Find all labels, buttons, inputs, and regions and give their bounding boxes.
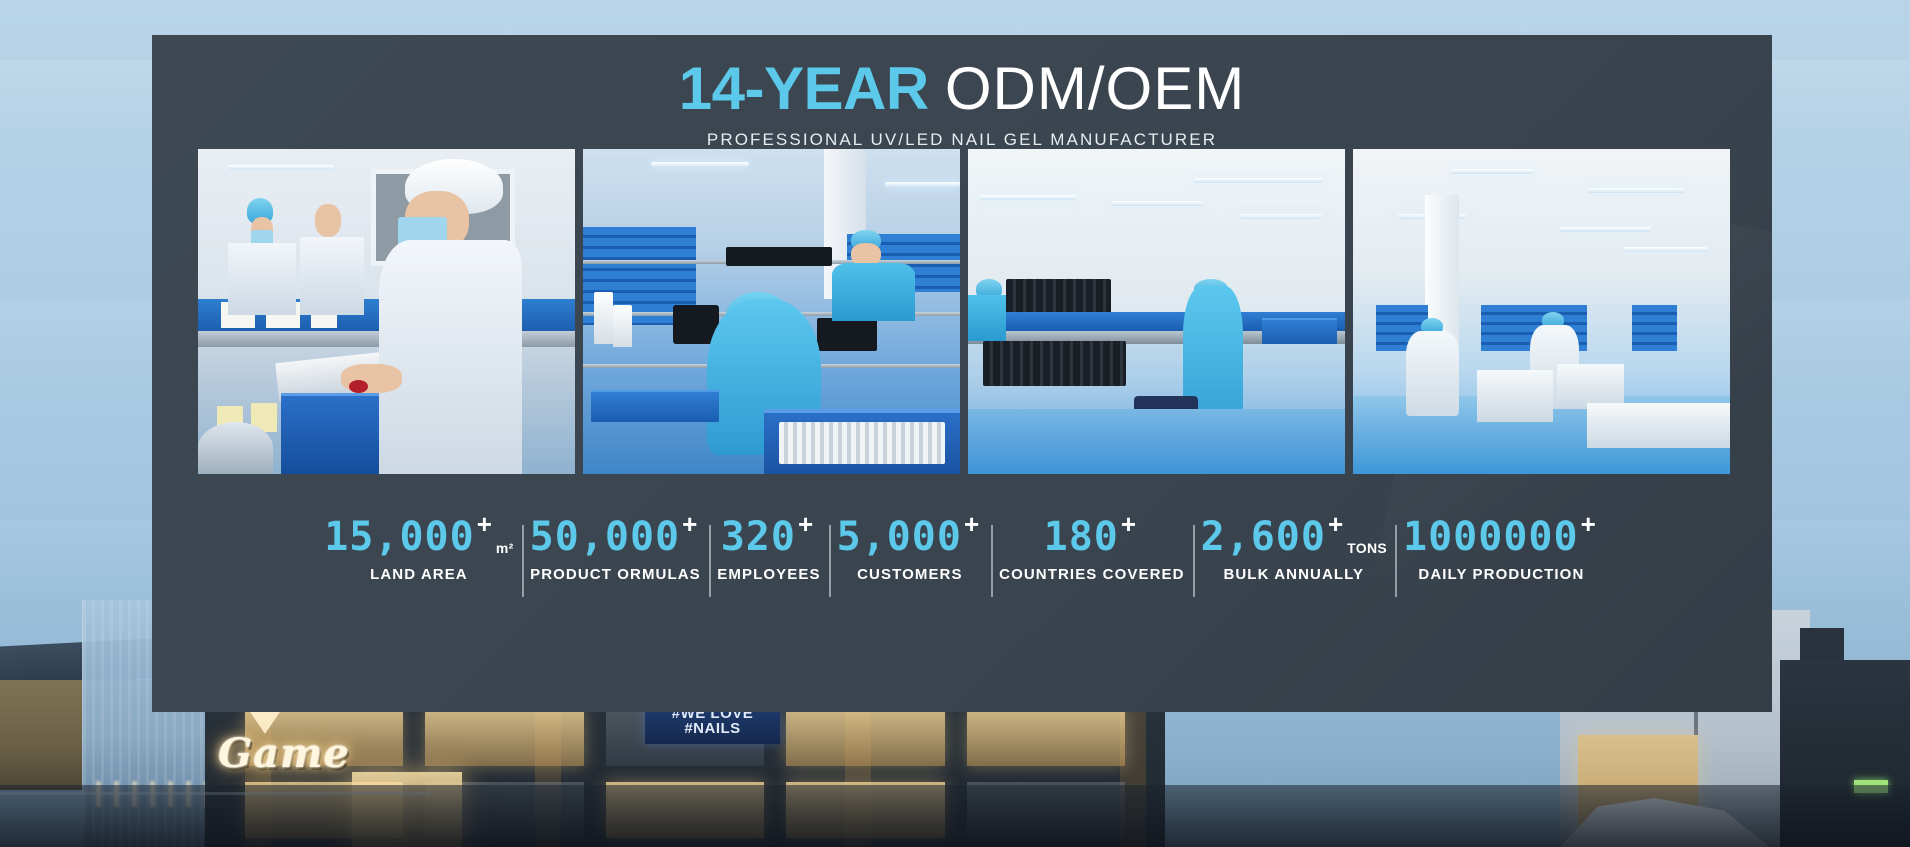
stat-plus: + <box>798 511 814 537</box>
ceiling-light <box>885 182 960 187</box>
white-bowl <box>198 422 273 474</box>
ceiling-light <box>1111 201 1201 206</box>
stat-number: 50,000 <box>530 517 681 557</box>
stat-unit: m² <box>496 541 514 555</box>
blue-floor <box>968 409 1345 474</box>
stat-value: 5,000 + <box>837 517 984 557</box>
worker-coat <box>968 295 1006 341</box>
stat-label: DAILY PRODUCTION <box>1418 566 1584 583</box>
stat-plus: + <box>682 511 698 537</box>
ceiling-light <box>1451 169 1534 174</box>
stat-plus: + <box>477 511 493 537</box>
title-accent: 14-YEAR <box>679 55 929 122</box>
equipment-box <box>726 247 832 267</box>
red-bracelet <box>349 380 368 393</box>
white-caps-pile <box>779 422 945 464</box>
stacked-bins <box>1632 305 1677 351</box>
stat-item: 5,000 + CUSTOMERS <box>829 517 992 583</box>
stat-plus: + <box>964 511 980 537</box>
promo-card: 14-YEAR ODM/OEM PROFESSIONAL UV/LED NAIL… <box>152 35 1772 712</box>
ceiling-light <box>1194 178 1322 183</box>
stat-value: 2,600 + TONS <box>1201 517 1387 557</box>
stat-number: 320 <box>721 517 796 557</box>
worker-body <box>1406 331 1459 416</box>
stat-item: 1000000 + DAILY PRODUCTION <box>1395 517 1608 583</box>
gel-bottle-row <box>983 341 1126 387</box>
stat-value: 320 + <box>721 517 817 557</box>
ceiling-light <box>979 195 1077 200</box>
ceiling-light <box>1587 188 1685 193</box>
stat-plus: + <box>1121 511 1137 537</box>
worker-coat <box>300 237 364 315</box>
stat-number: 180 <box>1044 517 1119 557</box>
stat-item: 50,000 + PRODUCT ORMULAS <box>522 517 710 583</box>
stat-label: LAND AREA <box>370 566 468 583</box>
stat-value: 15,000 + m² <box>324 517 513 557</box>
stat-number: 2,600 <box>1201 517 1326 557</box>
blue-bin <box>591 390 719 423</box>
stat-number: 15,000 <box>324 517 475 557</box>
stat-label: COUNTRIES COVERED <box>999 566 1184 583</box>
ceiling-light <box>1560 227 1650 232</box>
stat-label: PRODUCT ORMULAS <box>530 566 701 583</box>
white-table <box>1587 403 1730 449</box>
stat-label: EMPLOYEES <box>717 566 820 583</box>
stat-unit: TONS <box>1347 541 1387 555</box>
stat-item: 15,000 + m² LAND AREA <box>316 517 521 583</box>
white-table <box>1477 370 1552 422</box>
page-title: 14-YEAR ODM/OEM <box>152 57 1772 120</box>
stats-bar: 15,000 + m² LAND AREA 50,000 + PRODUCT O… <box>152 490 1772 610</box>
worker-face <box>315 204 341 237</box>
stat-plus: + <box>1581 511 1597 537</box>
ceiling-light <box>1624 247 1707 252</box>
stat-label: CUSTOMERS <box>857 566 962 583</box>
gallery-photo-1[interactable] <box>198 149 575 474</box>
stat-value: 1000000 + <box>1403 517 1600 557</box>
stat-item: 2,600 + TONS BULK ANNUALLY <box>1193 517 1395 583</box>
white-bottle <box>613 305 632 347</box>
ground-strip <box>0 785 1910 847</box>
worker-coat <box>379 240 522 474</box>
blue-bin <box>1262 318 1337 344</box>
equipment-box <box>817 318 877 351</box>
stat-number: 1000000 <box>1403 517 1579 557</box>
stat-plus: + <box>1328 511 1344 537</box>
worker-coat <box>228 243 296 315</box>
window <box>425 710 583 766</box>
title-plain: ODM/OEM <box>945 55 1245 122</box>
header: 14-YEAR ODM/OEM PROFESSIONAL UV/LED NAIL… <box>152 35 1772 150</box>
page-subtitle: PROFESSIONAL UV/LED NAIL GEL MANUFACTURE… <box>152 130 1772 150</box>
photo-gallery <box>198 149 1730 474</box>
gallery-photo-2[interactable] <box>583 149 960 474</box>
stat-item: 180 + COUNTRIES COVERED <box>991 517 1192 583</box>
stat-item: 320 + EMPLOYEES <box>709 517 828 583</box>
stat-value: 180 + <box>1044 517 1140 557</box>
stat-label: BULK ANNUALLY <box>1223 566 1364 583</box>
ceiling-light <box>1239 214 1322 219</box>
ceiling-light <box>228 165 334 170</box>
window <box>967 710 1125 766</box>
white-bottle <box>594 292 613 344</box>
gallery-photo-3[interactable] <box>968 149 1345 474</box>
ceiling-light <box>651 162 749 167</box>
neon-sign-text: Game <box>218 730 350 777</box>
gallery-photo-4[interactable] <box>1353 149 1730 474</box>
stat-value: 50,000 + <box>530 517 702 557</box>
window <box>786 710 944 766</box>
worker-coat <box>832 263 915 322</box>
stat-number: 5,000 <box>837 517 962 557</box>
